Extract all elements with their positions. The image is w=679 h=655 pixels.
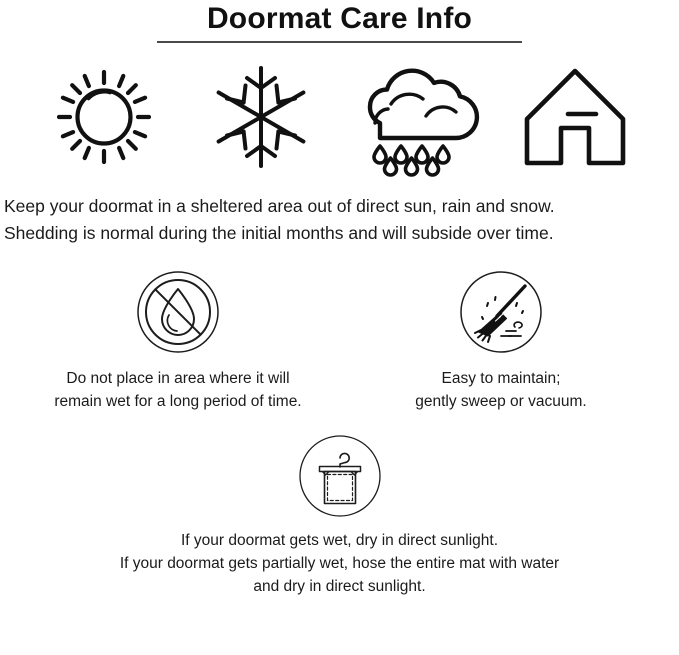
no-water-badge [135,269,221,355]
broom-badge [458,269,544,355]
care-caption-hang-dry: If your doormat gets wet, dry in direct … [120,529,559,598]
rain-cloud-icon [356,60,480,174]
caption-line-1: Do not place in area where it will [54,367,301,390]
care-caption-easy-maintain: Easy to maintain; gently sweep or vacuum… [415,367,586,413]
hang-dry-icon [298,434,382,518]
caption-line-2: gently sweep or vacuum. [415,390,586,413]
snowflake-icon [209,62,313,172]
care-caption-no-standing-water: Do not place in area where it will remai… [54,367,301,413]
intro-line-2: Shedding is normal during the initial mo… [4,220,675,247]
sun-icon [50,63,158,171]
intro-line-1: Keep your doormat in a sheltered area ou… [4,193,675,220]
no-water-icon [136,270,220,354]
caption-line-2: If your doormat gets partially wet, hose… [120,552,559,575]
care-item-easy-maintain: Easy to maintain; gently sweep or vacuum… [371,269,631,413]
weather-cell-snow [191,57,331,177]
care-item-hang-dry: If your doormat gets wet, dry in direct … [0,413,679,598]
caption-line-2: remain wet for a long period of time. [54,390,301,413]
caption-line-1: Easy to maintain; [415,367,586,390]
care-item-no-standing-water: Do not place in area where it will remai… [48,269,308,413]
page-header: Doormat Care Info [0,0,679,43]
house-icon [519,62,631,172]
caption-line-1: If your doormat gets wet, dry in direct … [120,529,559,552]
caption-line-3: and dry in direct sunlight. [120,575,559,598]
weather-icon-row [0,43,679,177]
care-items-row: Do not place in area where it will remai… [0,247,679,413]
weather-cell-sun [34,57,174,177]
broom-sweep-icon [459,270,543,354]
weather-cell-house [505,57,645,177]
hang-dry-badge [297,433,383,519]
weather-cell-rain [348,57,488,177]
intro-paragraph: Keep your doormat in a sheltered area ou… [0,177,679,247]
page-title: Doormat Care Info [0,2,679,36]
